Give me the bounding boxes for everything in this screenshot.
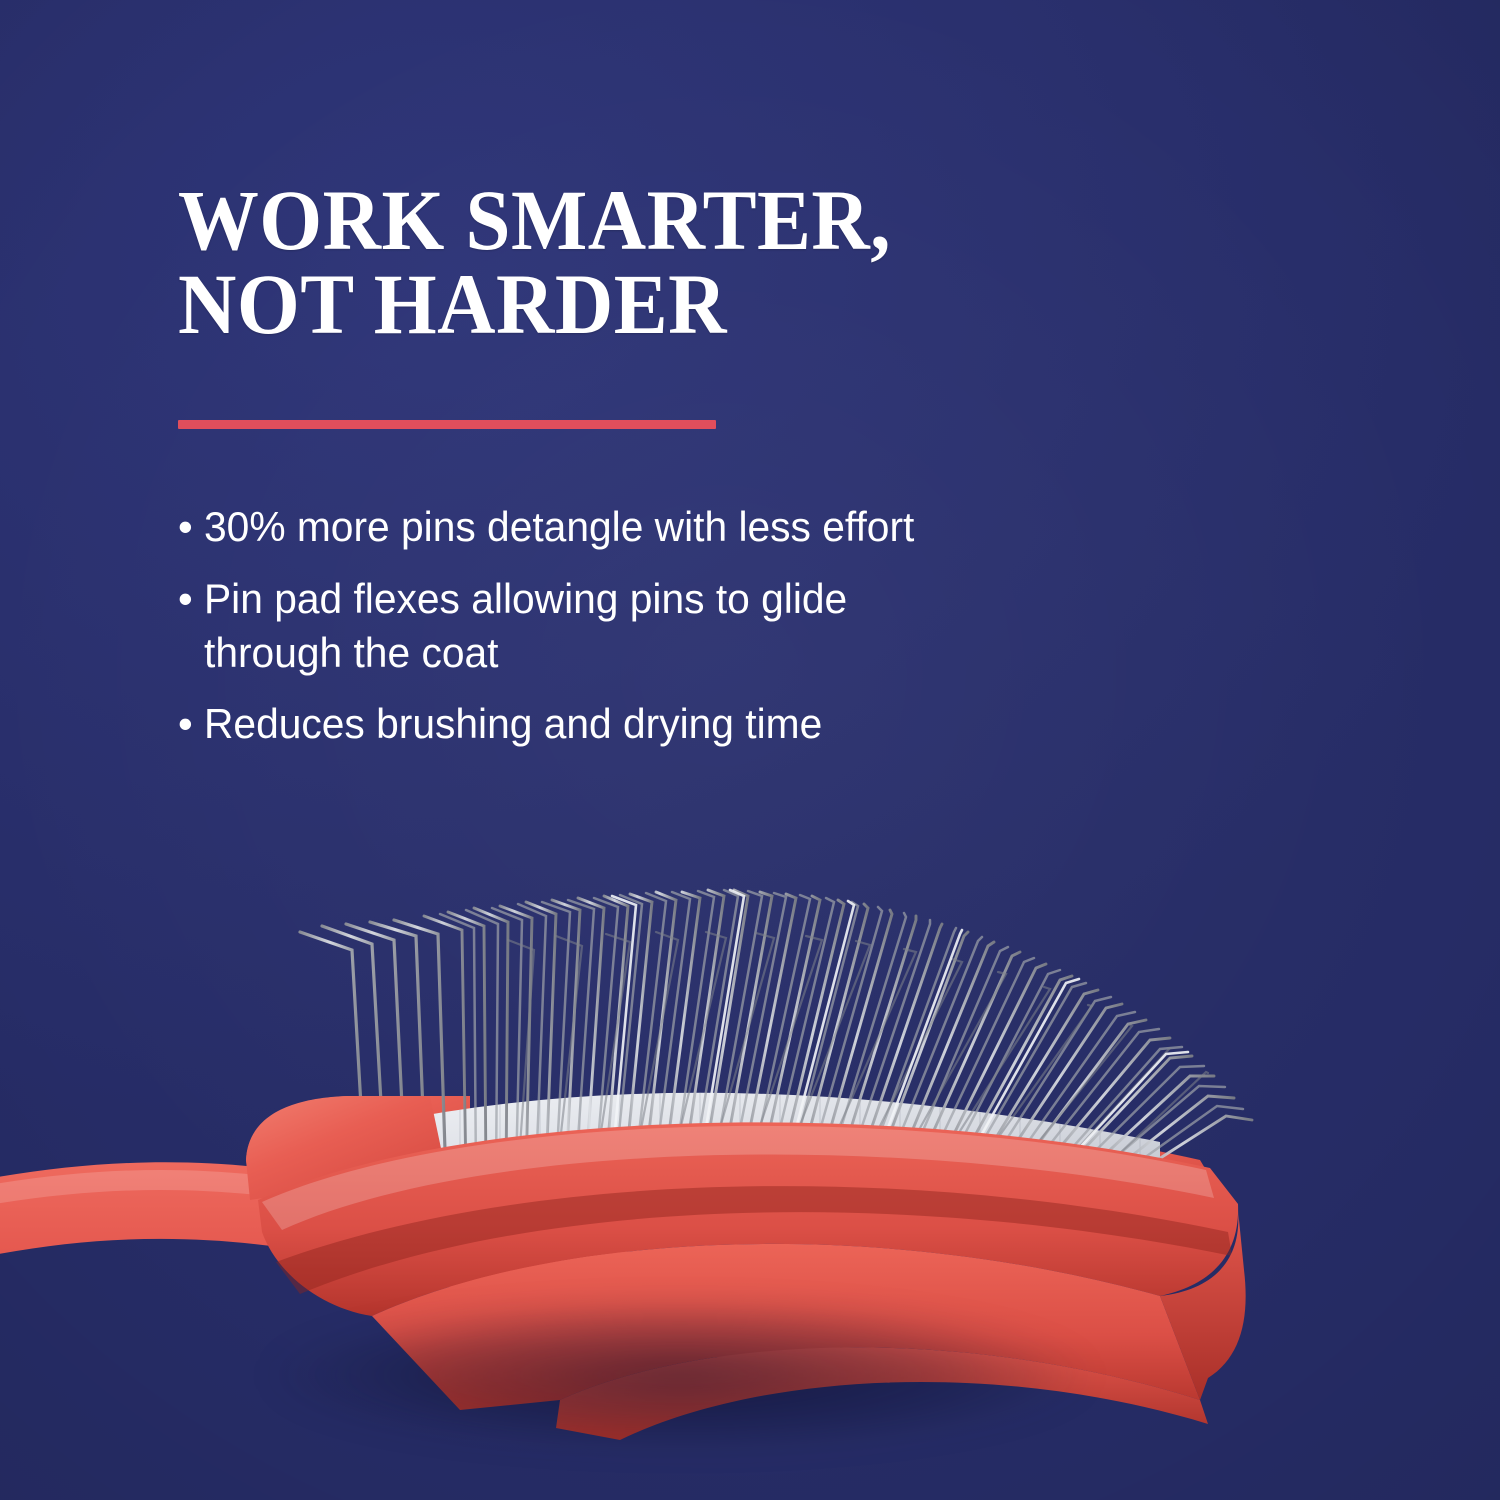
feature-bullet-list: • 30% more pins detangle with less effor…	[178, 500, 1078, 769]
copy-block: WORK SMARTER, NOT HARDER	[178, 178, 1078, 347]
list-item: • 30% more pins detangle with less effor…	[178, 500, 1078, 554]
bullet-marker-icon: •	[178, 697, 204, 751]
promo-image-canvas: WORK SMARTER, NOT HARDER • 30% more pins…	[0, 0, 1500, 1500]
page-title: WORK SMARTER, NOT HARDER	[178, 178, 1024, 347]
bullet-text: Reduces brushing and drying time	[204, 697, 922, 751]
bullet-text: Pin pad flexes allowing pins to glide th…	[204, 572, 922, 680]
list-item: • Reduces brushing and drying time	[178, 697, 1078, 751]
product-drop-shadow	[270, 1300, 1090, 1450]
bullet-text: 30% more pins detangle with less effort	[204, 500, 922, 554]
product-image	[0, 800, 1500, 1500]
bullet-marker-icon: •	[178, 572, 204, 626]
list-item: • Pin pad flexes allowing pins to glide …	[178, 572, 1078, 680]
bullet-marker-icon: •	[178, 500, 204, 554]
red-accent-rule	[178, 420, 716, 429]
